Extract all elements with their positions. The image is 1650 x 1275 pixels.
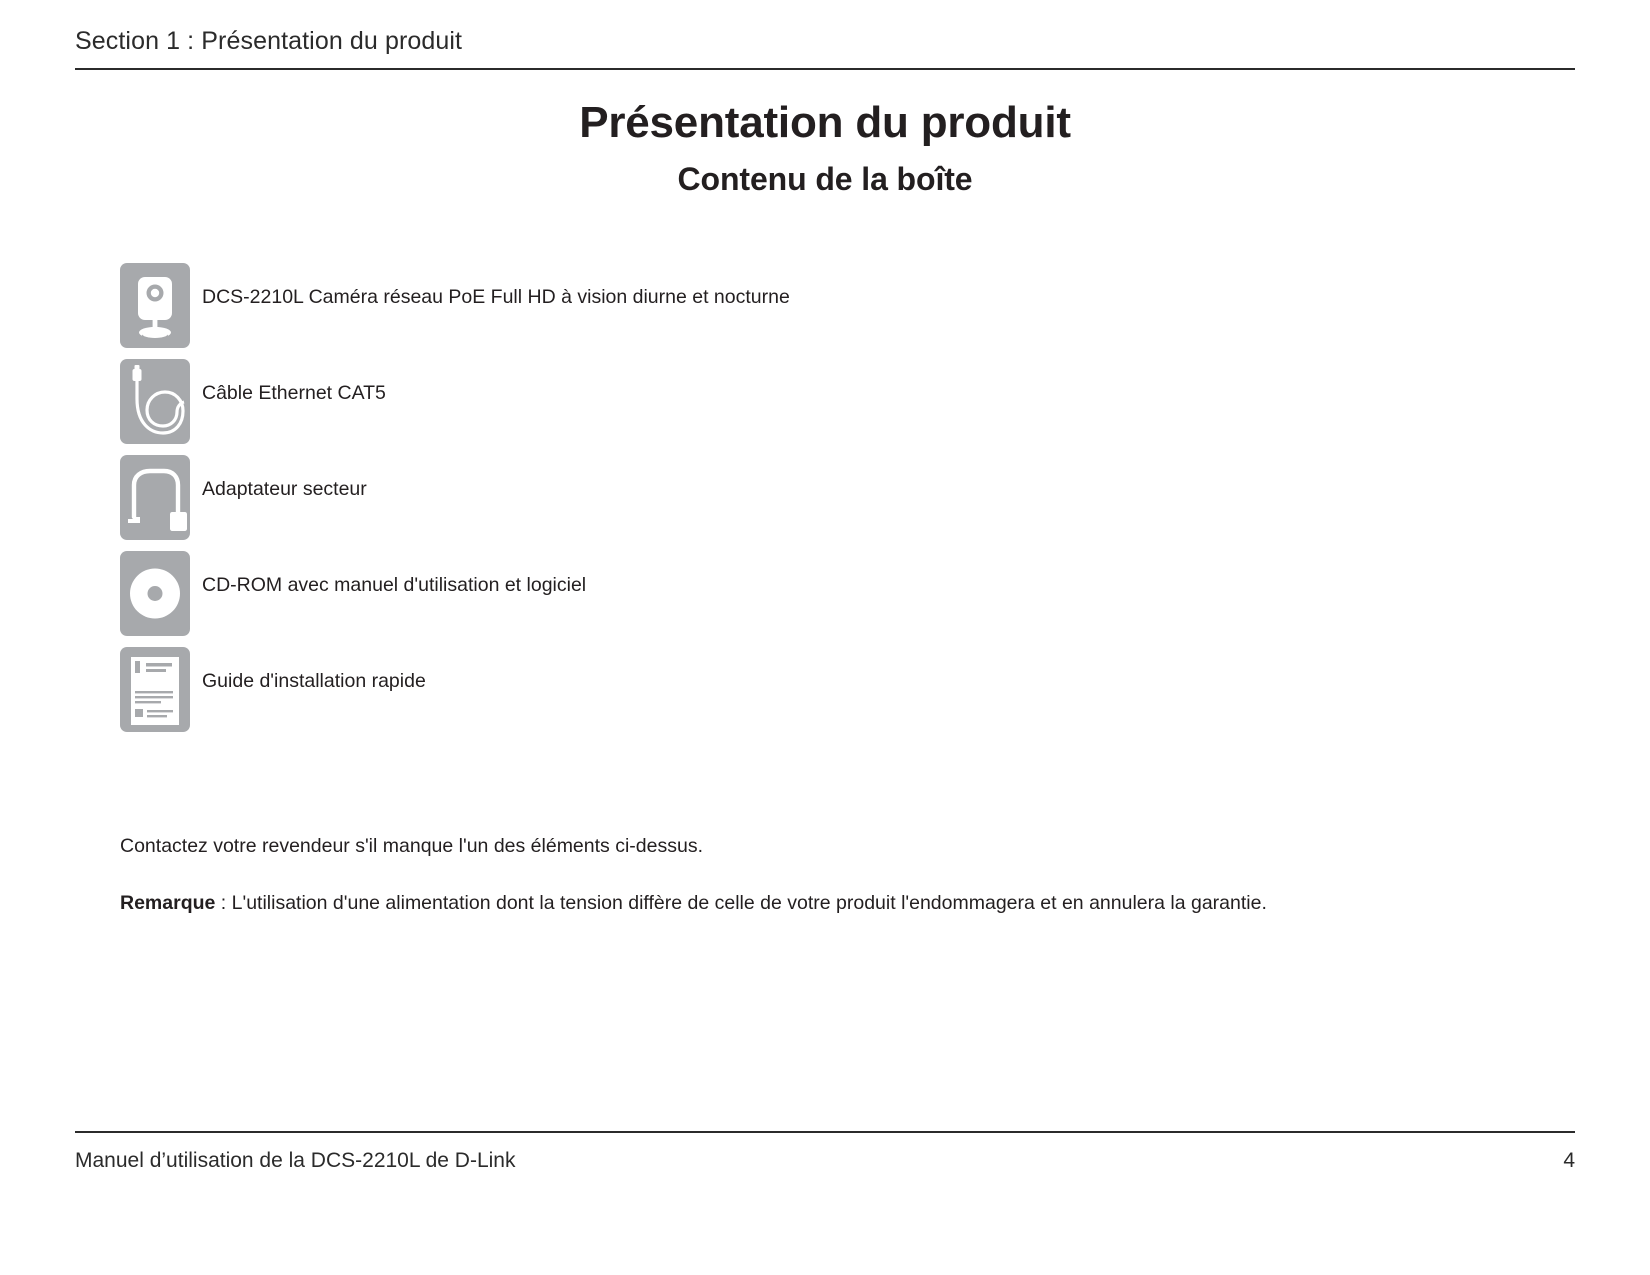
list-item-label: DCS-2210L Caméra réseau PoE Full HD à vi…	[202, 284, 790, 310]
footer-divider	[75, 1131, 1575, 1133]
cd-rom-icon	[120, 551, 190, 636]
list-item-label: Adaptateur secteur	[202, 476, 367, 502]
package-contents-list: DCS-2210L Caméra réseau PoE Full HD à vi…	[120, 263, 1550, 743]
list-item-label: Câble Ethernet CAT5	[202, 380, 386, 406]
warranty-remark: Remarque : L'utilisation d'une alimentat…	[120, 890, 1267, 917]
section-breadcrumb: Section 1 : Présentation du produit	[75, 24, 1575, 58]
footer-page-number: 4	[1563, 1146, 1575, 1176]
document-page: Section 1 : Présentation du produit Prés…	[0, 0, 1650, 1275]
list-item: Adaptateur secteur	[120, 455, 1550, 551]
page-subtitle: Contenu de la boîte	[0, 158, 1650, 200]
list-item-label: Guide d'installation rapide	[202, 668, 426, 694]
ethernet-cable-icon	[120, 359, 190, 444]
list-item-label: CD-ROM avec manuel d'utilisation et logi…	[202, 572, 586, 598]
footer-manual-title: Manuel d’utilisation de la DCS-2210L de …	[75, 1146, 515, 1176]
list-item: DCS-2210L Caméra réseau PoE Full HD à vi…	[120, 263, 1550, 359]
list-item: Guide d'installation rapide	[120, 647, 1550, 743]
page-title: Présentation du produit	[0, 96, 1650, 150]
running-header: Section 1 : Présentation du produit	[75, 24, 1575, 58]
header-divider	[75, 68, 1575, 70]
list-item: CD-ROM avec manuel d'utilisation et logi…	[120, 551, 1550, 647]
power-adapter-icon	[120, 455, 190, 540]
ip-camera-icon	[120, 263, 190, 348]
remark-label: Remarque	[120, 892, 215, 914]
quick-install-guide-icon	[120, 647, 190, 732]
contact-dealer-note: Contactez votre revendeur s'il manque l'…	[120, 833, 703, 860]
remark-text: : L'utilisation d'une alimentation dont …	[215, 892, 1267, 914]
list-item: Câble Ethernet CAT5	[120, 359, 1550, 455]
